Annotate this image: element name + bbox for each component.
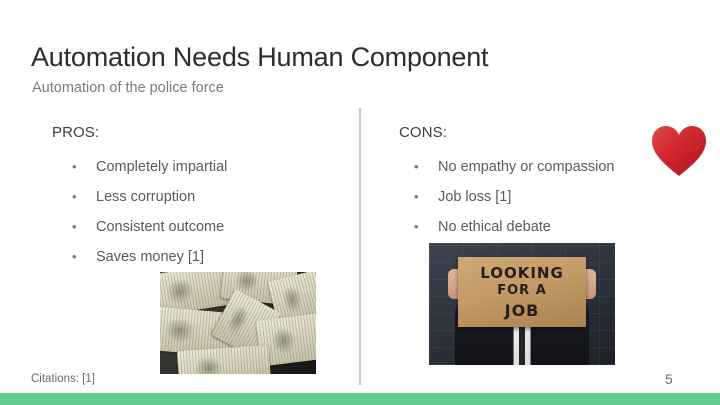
bottom-accent-bar	[0, 393, 720, 405]
rolled-hundred-dollar-bills-photo	[160, 272, 316, 374]
list-item: • Completely impartial	[70, 152, 227, 182]
list-item-label: Less corruption	[96, 189, 195, 205]
person-tie	[519, 321, 525, 365]
slide-canvas: Automation Needs Human Component Automat…	[0, 0, 720, 405]
list-item-label: Consistent outcome	[96, 219, 224, 235]
page-title: Automation Needs Human Component	[31, 42, 488, 73]
heart-icon	[651, 124, 707, 178]
bullet-dot-icon: •	[414, 212, 419, 242]
cons-list: • No empathy or compassion • Job loss [1…	[412, 152, 615, 242]
sign-line: LOOKING	[458, 264, 586, 282]
pros-list: • Completely impartial • Less corruption…	[70, 152, 227, 272]
list-item: • Job loss [1]	[412, 182, 615, 212]
dollar-bill-roll	[177, 345, 271, 374]
list-item-label: Completely impartial	[96, 159, 227, 175]
list-item: • No ethical debate	[412, 212, 615, 242]
cardboard-sign: LOOKING FOR A JOB	[458, 257, 586, 327]
sign-line: JOB	[458, 301, 586, 320]
list-item-label: Job loss [1]	[438, 189, 511, 205]
column-divider	[359, 108, 361, 385]
bullet-dot-icon: •	[72, 182, 77, 212]
bullet-dot-icon: •	[72, 152, 77, 182]
cons-heading: CONS:	[399, 124, 447, 141]
citations-footer: Citations: [1]	[31, 373, 95, 385]
pros-heading: PROS:	[52, 124, 99, 141]
bullet-dot-icon: •	[414, 152, 419, 182]
list-item-label: Saves money [1]	[96, 249, 204, 265]
bullet-dot-icon: •	[72, 242, 77, 272]
list-item: • Less corruption	[70, 182, 227, 212]
sign-line: FOR A	[458, 283, 586, 298]
person-holding-looking-for-a-job-sign-photo: LOOKING FOR A JOB	[429, 243, 615, 365]
page-subtitle: Automation of the police force	[32, 80, 224, 96]
bullet-dot-icon: •	[414, 182, 419, 212]
list-item-label: No ethical debate	[438, 219, 551, 235]
list-item: • Consistent outcome	[70, 212, 227, 242]
list-item: • No empathy or compassion	[412, 152, 615, 182]
list-item-label: No empathy or compassion	[438, 159, 615, 175]
page-number: 5	[665, 371, 673, 387]
list-item: • Saves money [1]	[70, 242, 227, 272]
bullet-dot-icon: •	[72, 212, 77, 242]
